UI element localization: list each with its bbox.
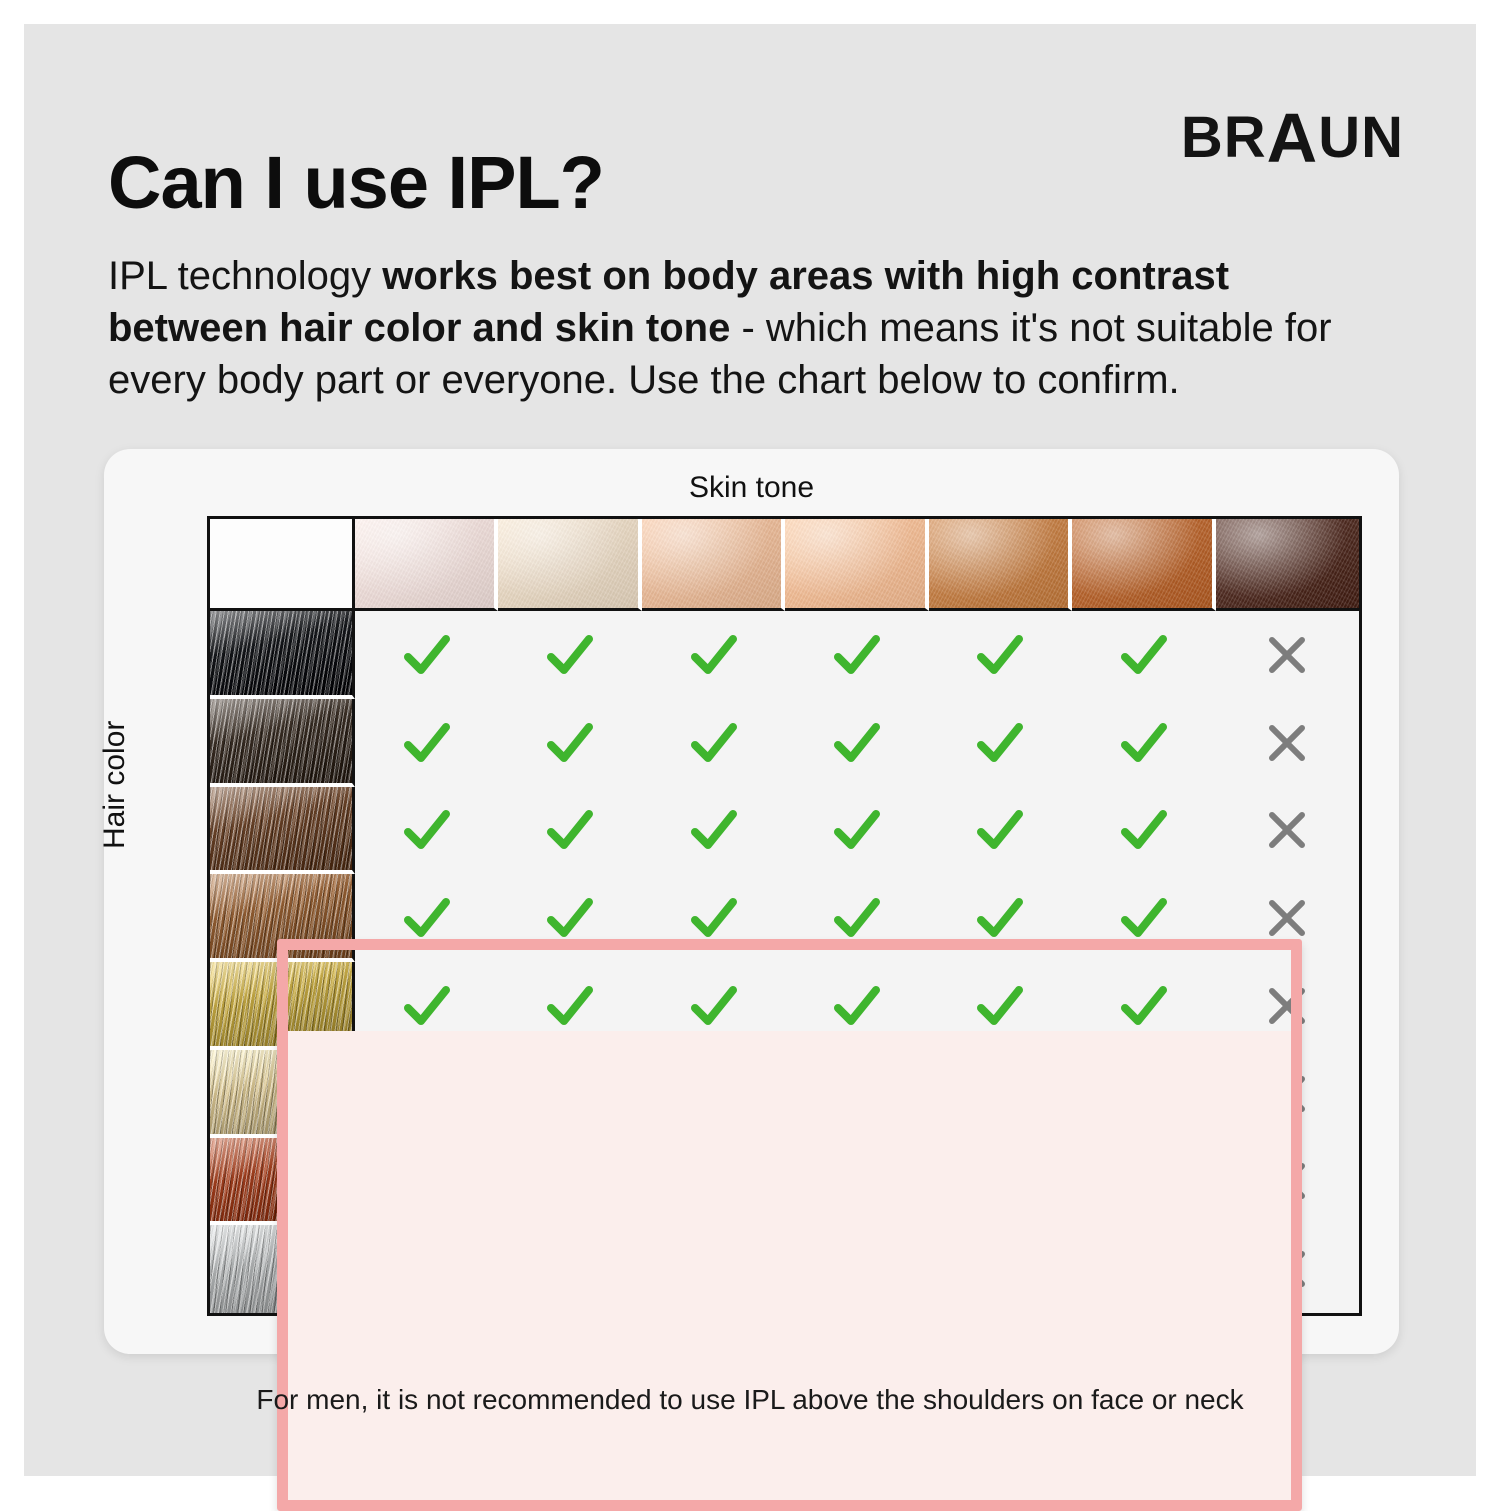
skin-tone-swatch-7 xyxy=(1216,519,1359,611)
cell-suitable xyxy=(642,962,785,1050)
cell-suitable xyxy=(355,611,498,699)
cell-suitable xyxy=(355,962,498,1050)
cell-suitable xyxy=(642,699,785,787)
brand-letter-b: B xyxy=(1181,109,1224,167)
page-title: Can I use IPL? xyxy=(108,146,604,220)
cell-suitable xyxy=(642,787,785,875)
cell-suitable xyxy=(929,962,1072,1050)
cell-suitable xyxy=(642,874,785,962)
cell-suitable xyxy=(1072,699,1215,787)
cell-not-suitable xyxy=(1216,1138,1359,1226)
skin-tone-swatch-6 xyxy=(1072,519,1215,611)
hair-color-swatch-4 xyxy=(210,874,355,962)
cell-not-suitable xyxy=(1216,787,1359,875)
cell-not-suitable xyxy=(642,1050,785,1138)
skin-tone-swatch-1 xyxy=(355,519,498,611)
cell-not-suitable xyxy=(1216,874,1359,962)
cell-suitable xyxy=(498,962,641,1050)
cell-not-suitable xyxy=(1072,1138,1215,1226)
poster-root: Can I use IPL? BRAUN IPL technology work… xyxy=(24,24,1476,1476)
cell-suitable xyxy=(1072,962,1215,1050)
hair-color-swatch-6 xyxy=(210,1050,355,1138)
cell-suitable xyxy=(355,699,498,787)
braun-logo: BRAUN xyxy=(1181,109,1404,167)
cell-suitable xyxy=(785,874,928,962)
cell-suitable xyxy=(929,787,1072,875)
cell-suitable xyxy=(785,787,928,875)
brand-letter-a: A xyxy=(1267,110,1319,167)
skin-tone-swatch-5 xyxy=(929,519,1072,611)
intro-text-lead: IPL technology xyxy=(108,254,382,298)
cell-not-suitable xyxy=(785,1138,928,1226)
cell-not-suitable xyxy=(1216,1225,1359,1313)
skin-tone-swatch-4 xyxy=(785,519,928,611)
cell-not-suitable xyxy=(355,1225,498,1313)
hair-color-swatch-2 xyxy=(210,699,355,787)
chart-panel: Skin tone Hair color xyxy=(104,449,1399,1354)
cell-not-suitable xyxy=(642,1225,785,1313)
hair-color-swatch-7 xyxy=(210,1138,355,1226)
footnote: For men, it is not recommended to use IP… xyxy=(24,1384,1476,1416)
hair-color-swatch-8 xyxy=(210,1225,355,1313)
brand-letter-u: U xyxy=(1318,109,1361,167)
skin-tone-swatch-2 xyxy=(498,519,641,611)
cell-not-suitable xyxy=(785,1050,928,1138)
cell-not-suitable xyxy=(1216,699,1359,787)
cell-not-suitable xyxy=(498,1138,641,1226)
cell-suitable xyxy=(355,787,498,875)
cell-not-suitable xyxy=(1216,962,1359,1050)
cell-suitable xyxy=(498,699,641,787)
cell-not-suitable xyxy=(498,1225,641,1313)
cell-not-suitable xyxy=(929,1225,1072,1313)
cell-suitable xyxy=(785,611,928,699)
cell-suitable xyxy=(642,611,785,699)
cell-suitable xyxy=(929,874,1072,962)
grid-corner-cell xyxy=(210,519,355,611)
cell-suitable xyxy=(1072,611,1215,699)
cell-not-suitable xyxy=(498,1050,641,1138)
cell-not-suitable xyxy=(1216,1050,1359,1138)
cell-suitable xyxy=(498,611,641,699)
cell-not-suitable xyxy=(929,1050,1072,1138)
cell-not-suitable xyxy=(929,1138,1072,1226)
cell-not-suitable xyxy=(785,1225,928,1313)
cell-suitable xyxy=(785,962,928,1050)
hair-color-swatch-5 xyxy=(210,962,355,1050)
cell-suitable xyxy=(355,874,498,962)
cell-suitable xyxy=(929,611,1072,699)
skin-tone-swatch-3 xyxy=(642,519,785,611)
cell-suitable xyxy=(498,874,641,962)
cell-suitable xyxy=(785,699,928,787)
cell-suitable xyxy=(929,699,1072,787)
cell-not-suitable xyxy=(355,1050,498,1138)
suitability-grid xyxy=(207,516,1362,1316)
hair-color-swatch-3 xyxy=(210,787,355,875)
cell-suitable xyxy=(1072,874,1215,962)
cell-not-suitable xyxy=(355,1138,498,1226)
intro-paragraph: IPL technology works best on body areas … xyxy=(108,250,1338,406)
cell-not-suitable xyxy=(1216,611,1359,699)
axis-label-skin-tone: Skin tone xyxy=(104,471,1399,505)
brand-letter-n: N xyxy=(1361,109,1404,167)
cell-not-suitable xyxy=(642,1138,785,1226)
brand-letter-r: R xyxy=(1224,109,1267,167)
cell-not-suitable xyxy=(1072,1050,1215,1138)
cell-not-suitable xyxy=(1072,1225,1215,1313)
hair-color-swatch-1 xyxy=(210,611,355,699)
axis-label-hair-color: Hair color xyxy=(98,721,132,849)
cell-suitable xyxy=(1072,787,1215,875)
cell-suitable xyxy=(498,787,641,875)
